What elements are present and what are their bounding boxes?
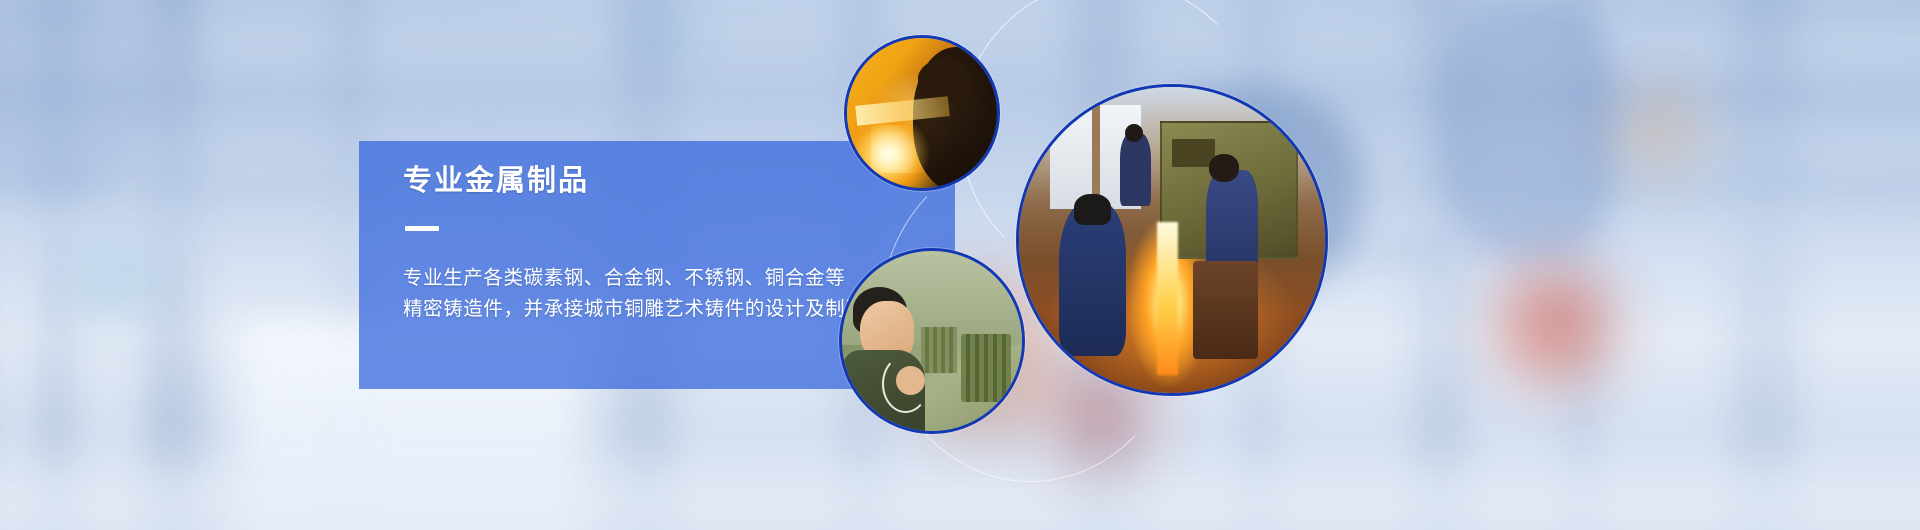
hero-banner: 专业金属制品 专业生产各类碳素钢、合金钢、不锈钢、铜合金等 精密铸造件，并承接城… [0,0,1920,530]
parts-inspection-photo [839,248,1025,434]
title-divider [405,226,439,231]
foundry-pour-photo [1016,84,1328,396]
welding-sparks-photo [844,35,1000,191]
photo-collage [820,0,1520,530]
